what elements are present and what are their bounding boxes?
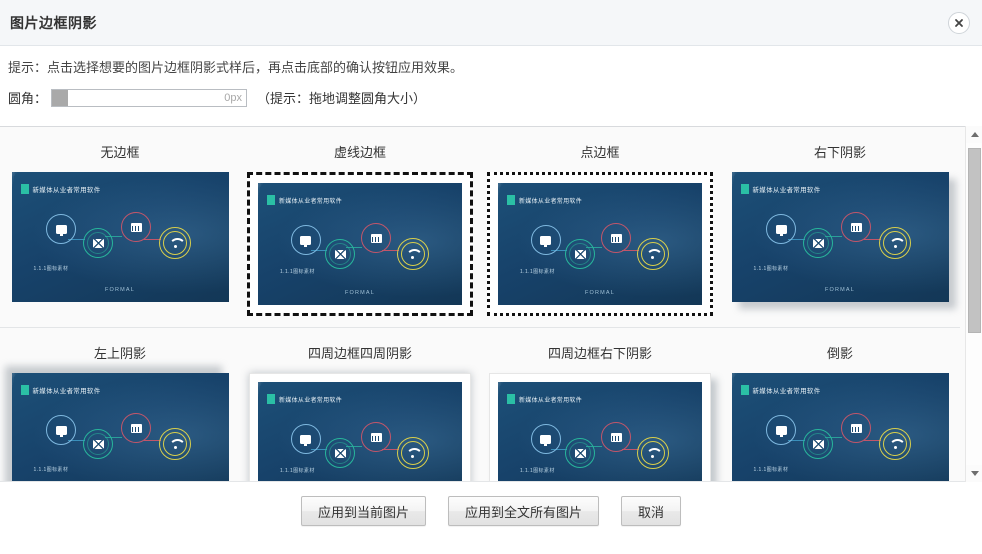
wifi-icon — [879, 227, 911, 259]
slide-title-group: 新媒体从业者常用软件 — [741, 385, 821, 395]
frame-wrapper: 新媒体从业者常用软件 — [247, 172, 473, 316]
scroll-up-arrow-glyph — [971, 132, 979, 137]
style-option-no-border[interactable]: 无边框 新媒体从业者常用软件 — [0, 127, 240, 327]
image-border-shadow-dialog: 图片边框阴影 提示：点击选择想要的图片边框阴影式样后，再点击底部的确认按钮应用效… — [0, 0, 982, 554]
wifi-icon — [637, 437, 669, 469]
calendar-icon — [841, 413, 871, 443]
apply-to-current-image-button[interactable]: 应用到当前图片 — [301, 496, 426, 526]
mail-icon — [325, 239, 355, 269]
mail-icon — [325, 438, 355, 468]
close-icon[interactable] — [948, 12, 970, 34]
frame-wrapper: 新媒体从业者常用软件 — [487, 172, 713, 316]
scroll-down-arrow-glyph — [971, 471, 979, 476]
slide-title: 新媒体从业者常用软件 — [279, 395, 342, 404]
slide-title: 新媒体从业者常用软件 — [33, 184, 101, 194]
monitor-icon — [531, 225, 561, 255]
slide-node-chain — [12, 212, 229, 268]
title-marker-icon — [21, 184, 29, 194]
corner-radius-tip: （提示：拖地调整圆角大小） — [257, 88, 426, 107]
slide-thumbnail: 新媒体从业者常用软件 — [498, 382, 702, 482]
slide-node-chain — [12, 413, 229, 469]
slide-subtitle: 1.1.1图标素材 — [520, 467, 555, 474]
slide-thumbnail: 新媒体从业者常用软件 — [732, 373, 949, 482]
style-option-dashed-border[interactable]: 虚线边框 新媒体从业者常用软件 — [240, 127, 480, 327]
close-x-glyph — [954, 18, 964, 28]
calendar-icon — [121, 413, 151, 443]
mail-icon — [565, 438, 595, 468]
style-preview[interactable]: 新媒体从业者常用软件 — [720, 373, 960, 482]
slide-thumbnail: 新媒体从业者常用软件 — [732, 172, 949, 302]
slide-title: 新媒体从业者常用软件 — [33, 385, 101, 395]
slide-title: 新媒体从业者常用软件 — [753, 184, 821, 194]
slide-subtitle: 1.1.1图标素材 — [754, 265, 789, 272]
wifi-icon — [159, 227, 191, 259]
title-marker-icon — [267, 195, 275, 205]
corner-radius-value: 0px — [224, 92, 242, 104]
style-option-bottom-right-shadow[interactable]: 右下阴影 新媒体从业者常用软件 — [720, 127, 960, 327]
slide-footer: FORMAL — [12, 287, 229, 293]
slide-title: 新媒体从业者常用软件 — [279, 196, 342, 205]
scroll-up-icon[interactable] — [966, 126, 982, 143]
style-gallery-scroll-area[interactable]: 无边框 新媒体从业者常用软件 — [0, 126, 982, 482]
frame-wrapper: 新媒体从业者常用软件 — [249, 373, 471, 482]
slide-title-group: 新媒体从业者常用软件 — [507, 195, 582, 205]
calendar-icon — [121, 212, 151, 242]
style-option-reflection[interactable]: 倒影 新媒体从业者常用软件 — [720, 328, 960, 482]
dialog-footer: 应用到当前图片 应用到全文所有图片 取消 — [0, 482, 982, 554]
slide-title-group: 新媒体从业者常用软件 — [21, 184, 101, 194]
style-label: 无边框 — [100, 145, 139, 161]
slide-title: 新媒体从业者常用软件 — [519, 395, 582, 404]
slide-subtitle: 1.1.1图标素材 — [520, 268, 555, 275]
slide-title-group: 新媒体从业者常用软件 — [267, 195, 342, 205]
title-marker-icon — [741, 184, 749, 194]
scrollbar-track[interactable] — [966, 143, 982, 465]
style-row: 无边框 新媒体从业者常用软件 — [0, 127, 960, 328]
wifi-icon — [159, 428, 191, 460]
wifi-icon — [879, 428, 911, 460]
slide-thumbnail: 新媒体从业者常用软件 — [12, 172, 229, 302]
style-preview[interactable]: 新媒体从业者常用软件 — [480, 373, 720, 482]
slide-thumbnail: 新媒体从业者常用软件 — [258, 382, 462, 482]
style-gallery: 无边框 新媒体从业者常用软件 — [0, 127, 960, 482]
mail-icon — [83, 429, 113, 459]
style-option-all-border-all-shadow[interactable]: 四周边框四周阴影 新媒体从业者常用软件 — [240, 328, 480, 482]
slide-title-group: 新媒体从业者常用软件 — [507, 394, 582, 404]
slide-node-chain — [732, 413, 949, 469]
style-preview[interactable]: 新媒体从业者常用软件 — [240, 172, 480, 312]
slide-subtitle: 1.1.1图标素材 — [280, 268, 315, 275]
frame-wrapper: 新媒体从业者常用软件 — [489, 373, 711, 482]
style-label: 右下阴影 — [814, 145, 866, 161]
style-label: 左上阴影 — [94, 346, 146, 362]
wifi-icon — [397, 238, 429, 270]
frame-wrapper: 新媒体从业者常用软件 — [12, 373, 229, 482]
slide-footer: FORMAL — [498, 290, 702, 296]
slide-title-group: 新媒体从业者常用软件 — [741, 184, 821, 194]
slide-node-chain — [732, 212, 949, 268]
frame-wrapper: 新媒体从业者常用软件 — [732, 373, 949, 482]
cancel-button[interactable]: 取消 — [621, 496, 681, 526]
slide-subtitle: 1.1.1图标素材 — [34, 265, 69, 272]
wifi-icon — [397, 437, 429, 469]
slide-thumbnail: 新媒体从业者常用软件 — [498, 183, 702, 305]
style-label: 倒影 — [827, 346, 853, 362]
wifi-icon — [637, 238, 669, 270]
corner-radius-row: 圆角： 0px （提示：拖地调整圆角大小） — [8, 88, 426, 107]
dialog-titlebar: 图片边框阴影 — [0, 0, 982, 46]
monitor-icon — [291, 225, 321, 255]
title-marker-icon — [21, 385, 29, 395]
corner-radius-slider[interactable]: 0px — [51, 89, 247, 107]
apply-to-all-images-button[interactable]: 应用到全文所有图片 — [448, 496, 599, 526]
corner-radius-slider-handle[interactable] — [52, 90, 68, 106]
mail-icon — [803, 429, 833, 459]
style-label: 虚线边框 — [334, 145, 386, 161]
title-marker-icon — [741, 385, 749, 395]
slide-thumbnail: 新媒体从业者常用软件 — [12, 373, 229, 482]
calendar-icon — [361, 422, 391, 452]
title-marker-icon — [267, 394, 275, 404]
corner-radius-label: 圆角： — [8, 88, 47, 107]
slide-title-group: 新媒体从业者常用软件 — [267, 394, 342, 404]
calendar-icon — [841, 212, 871, 242]
style-preview[interactable]: 新媒体从业者常用软件 — [0, 373, 240, 482]
slide-footer: FORMAL — [732, 287, 949, 293]
slide-subtitle: 1.1.1图标素材 — [280, 467, 315, 474]
scroll-down-icon[interactable] — [966, 465, 982, 482]
frame-wrapper: 新媒体从业者常用软件 — [12, 172, 229, 302]
slide-title-group: 新媒体从业者常用软件 — [21, 385, 101, 395]
calendar-icon — [601, 422, 631, 452]
mail-icon — [565, 239, 595, 269]
monitor-icon — [291, 424, 321, 454]
style-preview[interactable]: 新媒体从业者常用软件 — [480, 172, 720, 312]
slide-subtitle: 1.1.1图标素材 — [34, 466, 69, 473]
calendar-icon — [361, 223, 391, 253]
style-option-top-left-shadow[interactable]: 左上阴影 新媒体从业者常用软件 — [0, 328, 240, 482]
style-preview[interactable]: 新媒体从业者常用软件 — [0, 172, 240, 312]
slide-title: 新媒体从业者常用软件 — [753, 385, 821, 395]
slide-footer: FORMAL — [258, 290, 462, 296]
style-row: 左上阴影 新媒体从业者常用软件 — [0, 328, 960, 482]
mail-icon — [803, 228, 833, 258]
calendar-icon — [601, 223, 631, 253]
style-label: 点边框 — [580, 145, 619, 161]
monitor-icon — [531, 424, 561, 454]
slide-thumbnail: 新媒体从业者常用软件 — [258, 183, 462, 305]
style-option-dotted-border[interactable]: 点边框 新媒体从业者常用软件 — [480, 127, 720, 327]
style-option-all-border-bottom-right-shadow[interactable]: 四周边框右下阴影 新媒体从业者常用软件 — [480, 328, 720, 482]
style-label: 四周边框右下阴影 — [548, 346, 652, 362]
style-label: 四周边框四周阴影 — [308, 346, 412, 362]
style-preview[interactable]: 新媒体从业者常用软件 — [720, 172, 960, 312]
mail-icon — [83, 228, 113, 258]
dialog-title: 图片边框阴影 — [10, 13, 97, 33]
gallery-scrollbar[interactable] — [965, 126, 982, 482]
scrollbar-thumb[interactable] — [968, 148, 981, 333]
slide-subtitle: 1.1.1图标素材 — [754, 466, 789, 473]
hint-text: 提示：点击选择想要的图片边框阴影式样后，再点击底部的确认按钮应用效果。 — [8, 59, 463, 77]
style-preview[interactable]: 新媒体从业者常用软件 — [240, 373, 480, 482]
title-marker-icon — [507, 195, 515, 205]
frame-wrapper: 新媒体从业者常用软件 — [732, 172, 949, 302]
slide-title: 新媒体从业者常用软件 — [519, 196, 582, 205]
title-marker-icon — [507, 394, 515, 404]
